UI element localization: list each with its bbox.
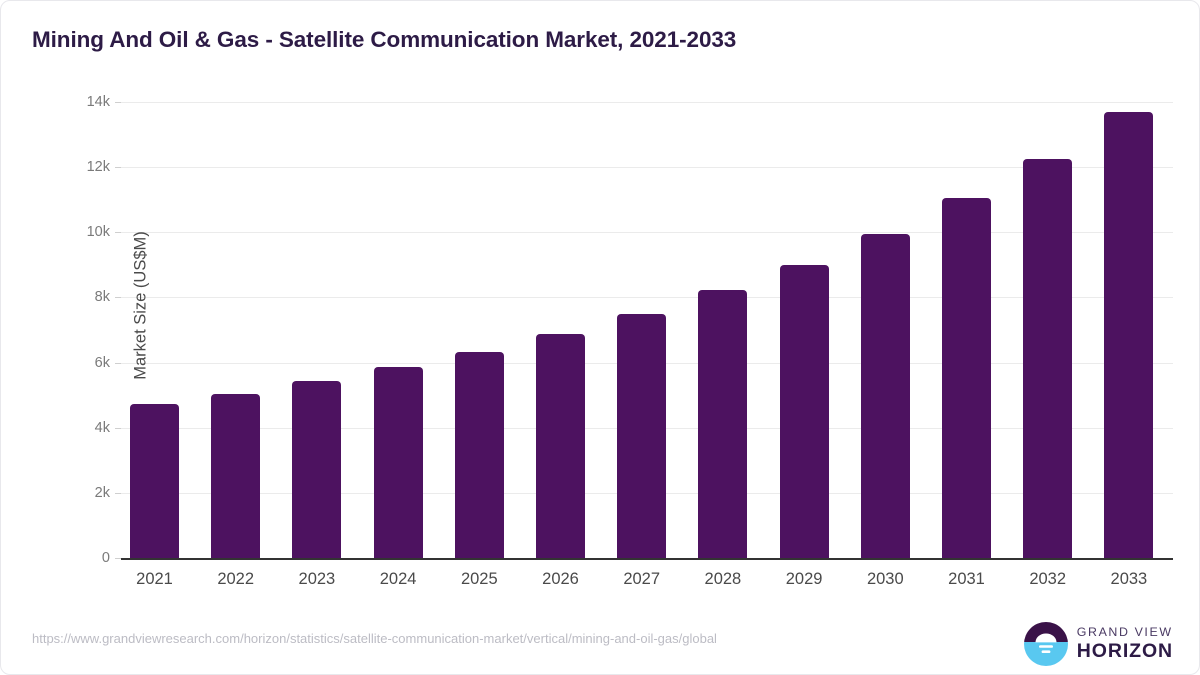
bar[interactable]	[861, 234, 910, 558]
logo-text-top: GRAND VIEW	[1077, 626, 1173, 638]
bar-series: 2021202220232024202520262027202820292030…	[121, 96, 1173, 564]
bar[interactable]	[780, 265, 829, 558]
y-tick-label: 10k	[0, 224, 110, 240]
y-tick-label: 2k	[0, 485, 110, 501]
bar[interactable]	[617, 314, 666, 558]
bar[interactable]	[698, 290, 747, 558]
bar[interactable]	[942, 198, 991, 558]
bar[interactable]	[1104, 112, 1153, 558]
y-axis-title: Market Size (US$M)	[132, 26, 151, 586]
y-tick-label: 8k	[0, 289, 110, 305]
bar[interactable]	[1023, 159, 1072, 558]
logo-wordmark: GRAND VIEW HORIZON	[1077, 626, 1173, 662]
logo-text-bottom: HORIZON	[1077, 642, 1173, 662]
y-tick-label: 14k	[0, 94, 110, 110]
chart-page: Mining And Oil & Gas - Satellite Communi…	[0, 0, 1200, 675]
y-tick-label: 4k	[0, 420, 110, 436]
horizon-logo-icon	[1024, 622, 1068, 666]
y-tick-label: 12k	[0, 159, 110, 175]
source-url[interactable]: https://www.grandviewresearch.com/horizo…	[32, 631, 717, 646]
bar[interactable]	[211, 394, 260, 558]
y-tick-label: 0	[0, 550, 110, 566]
bar[interactable]	[455, 352, 504, 558]
bar[interactable]	[536, 334, 585, 558]
x-tick-label: 2033	[1074, 570, 1184, 589]
bar[interactable]	[374, 367, 423, 558]
brand-logo[interactable]: GRAND VIEW HORIZON	[1024, 621, 1173, 667]
bar[interactable]	[292, 381, 341, 559]
plot-area: 02k4k6k8k10k12k14k 202120222023202420252…	[121, 96, 1173, 564]
y-tick-label: 6k	[0, 355, 110, 371]
